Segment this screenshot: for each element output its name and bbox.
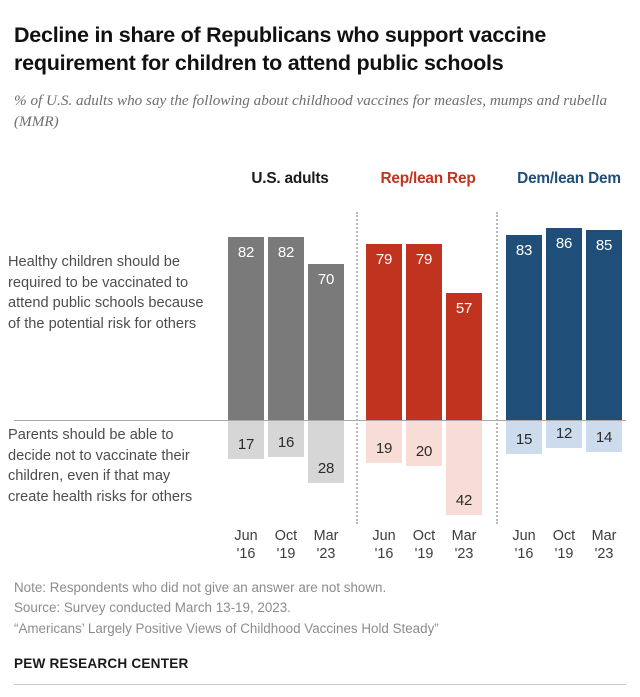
bar-value-u-s-adults-oct-19-parents-decide: 16: [268, 434, 304, 451]
brand-pew-research-center: PEW RESEARCH CENTER: [14, 656, 626, 671]
bar-value-rep-lean-rep-oct-19-require: 79: [406, 251, 442, 268]
chart-page: Decline in share of Republicans who supp…: [0, 22, 640, 697]
bar-u-s-adults-jun-16-require: [228, 237, 264, 420]
bar-value-u-s-adults-oct-19-require: 82: [268, 244, 304, 261]
bar-value-u-s-adults-jun-16-require: 82: [228, 244, 264, 261]
x-tick-line: '19: [546, 545, 582, 563]
bar-value-dem-lean-dem-oct-19-require: 86: [546, 235, 582, 252]
bar-value-rep-lean-rep-jun-16-parents-decide: 19: [366, 440, 402, 457]
footer-report: “Americans’ Largely Positive Views of Ch…: [14, 619, 626, 639]
panel-header-dem-lean-dem: Dem/lean Dem: [506, 170, 632, 188]
bar-value-rep-lean-rep-mar-23-parents-decide: 42: [446, 492, 482, 509]
footer-source: Source: Survey conducted March 13-19, 20…: [14, 598, 626, 618]
panel-header-rep-lean-rep: Rep/lean Rep: [366, 170, 490, 188]
x-axis-tick-labels: Jun'16Oct'19Mar'23Jun'16Oct'19Mar'23Jun'…: [0, 527, 640, 571]
x-tick-rep-lean-rep-jun-16: Jun'16: [366, 527, 402, 564]
x-tick-u-s-adults-mar-23: Mar'23: [308, 527, 344, 564]
x-tick-line: Jun: [228, 527, 264, 545]
x-tick-line: '16: [506, 545, 542, 563]
x-tick-line: '23: [586, 545, 622, 563]
footer-note: Note: Respondents who did not give an an…: [14, 578, 626, 598]
x-tick-dem-lean-dem-mar-23: Mar'23: [586, 527, 622, 564]
bar-value-u-s-adults-jun-16-parents-decide: 17: [228, 436, 264, 453]
x-tick-rep-lean-rep-oct-19: Oct'19: [406, 527, 442, 564]
x-tick-u-s-adults-oct-19: Oct'19: [268, 527, 304, 564]
panel-header-row: U.S. adults Rep/lean Rep Dem/lean Dem: [0, 170, 640, 194]
x-tick-line: Mar: [308, 527, 344, 545]
bar-value-rep-lean-rep-mar-23-require: 57: [446, 300, 482, 317]
x-tick-line: '19: [268, 545, 304, 563]
bar-dem-lean-dem-oct-19-require: [546, 228, 582, 420]
x-tick-dem-lean-dem-oct-19: Oct'19: [546, 527, 582, 564]
x-tick-dem-lean-dem-jun-16: Jun'16: [506, 527, 542, 564]
x-tick-line: '23: [308, 545, 344, 563]
chart-plot-area: 821782167028791979205742831586128514: [0, 204, 640, 524]
bar-value-dem-lean-dem-jun-16-parents-decide: 15: [506, 431, 542, 448]
page-title: Decline in share of Republicans who supp…: [14, 22, 614, 78]
bar-u-s-adults-oct-19-require: [268, 237, 304, 420]
x-tick-line: Oct: [546, 527, 582, 545]
x-tick-line: Oct: [268, 527, 304, 545]
bar-value-dem-lean-dem-mar-23-parents-decide: 14: [586, 429, 622, 446]
bar-value-dem-lean-dem-oct-19-parents-decide: 12: [546, 425, 582, 442]
panel-divider-2: [496, 212, 498, 524]
x-tick-line: '16: [228, 545, 264, 563]
panel-divider-1: [356, 212, 358, 524]
chart-subtitle: % of U.S. adults who say the following a…: [14, 91, 616, 132]
chart-footer: Note: Respondents who did not give an an…: [14, 578, 626, 671]
bar-value-rep-lean-rep-jun-16-require: 79: [366, 251, 402, 268]
bar-dem-lean-dem-jun-16-require: [506, 235, 542, 420]
bar-rep-lean-rep-jun-16-require: [366, 244, 402, 420]
x-tick-line: Jun: [366, 527, 402, 545]
x-tick-line: Mar: [446, 527, 482, 545]
bar-rep-lean-rep-oct-19-require: [406, 244, 442, 420]
x-tick-line: '16: [366, 545, 402, 563]
bar-value-rep-lean-rep-oct-19-parents-decide: 20: [406, 443, 442, 460]
bar-value-u-s-adults-mar-23-parents-decide: 28: [308, 460, 344, 477]
x-tick-line: '19: [406, 545, 442, 563]
x-tick-u-s-adults-jun-16: Jun'16: [228, 527, 264, 564]
panel-header-us-adults: U.S. adults: [228, 170, 352, 188]
x-tick-rep-lean-rep-mar-23: Mar'23: [446, 527, 482, 564]
x-tick-line: Mar: [586, 527, 622, 545]
x-tick-line: Oct: [406, 527, 442, 545]
footer-rule: [14, 684, 626, 685]
bar-value-u-s-adults-mar-23-require: 70: [308, 271, 344, 288]
x-tick-line: Jun: [506, 527, 542, 545]
x-tick-line: '23: [446, 545, 482, 563]
bar-value-dem-lean-dem-mar-23-require: 85: [586, 237, 622, 254]
bar-value-dem-lean-dem-jun-16-require: 83: [506, 242, 542, 259]
bar-dem-lean-dem-mar-23-require: [586, 230, 622, 420]
